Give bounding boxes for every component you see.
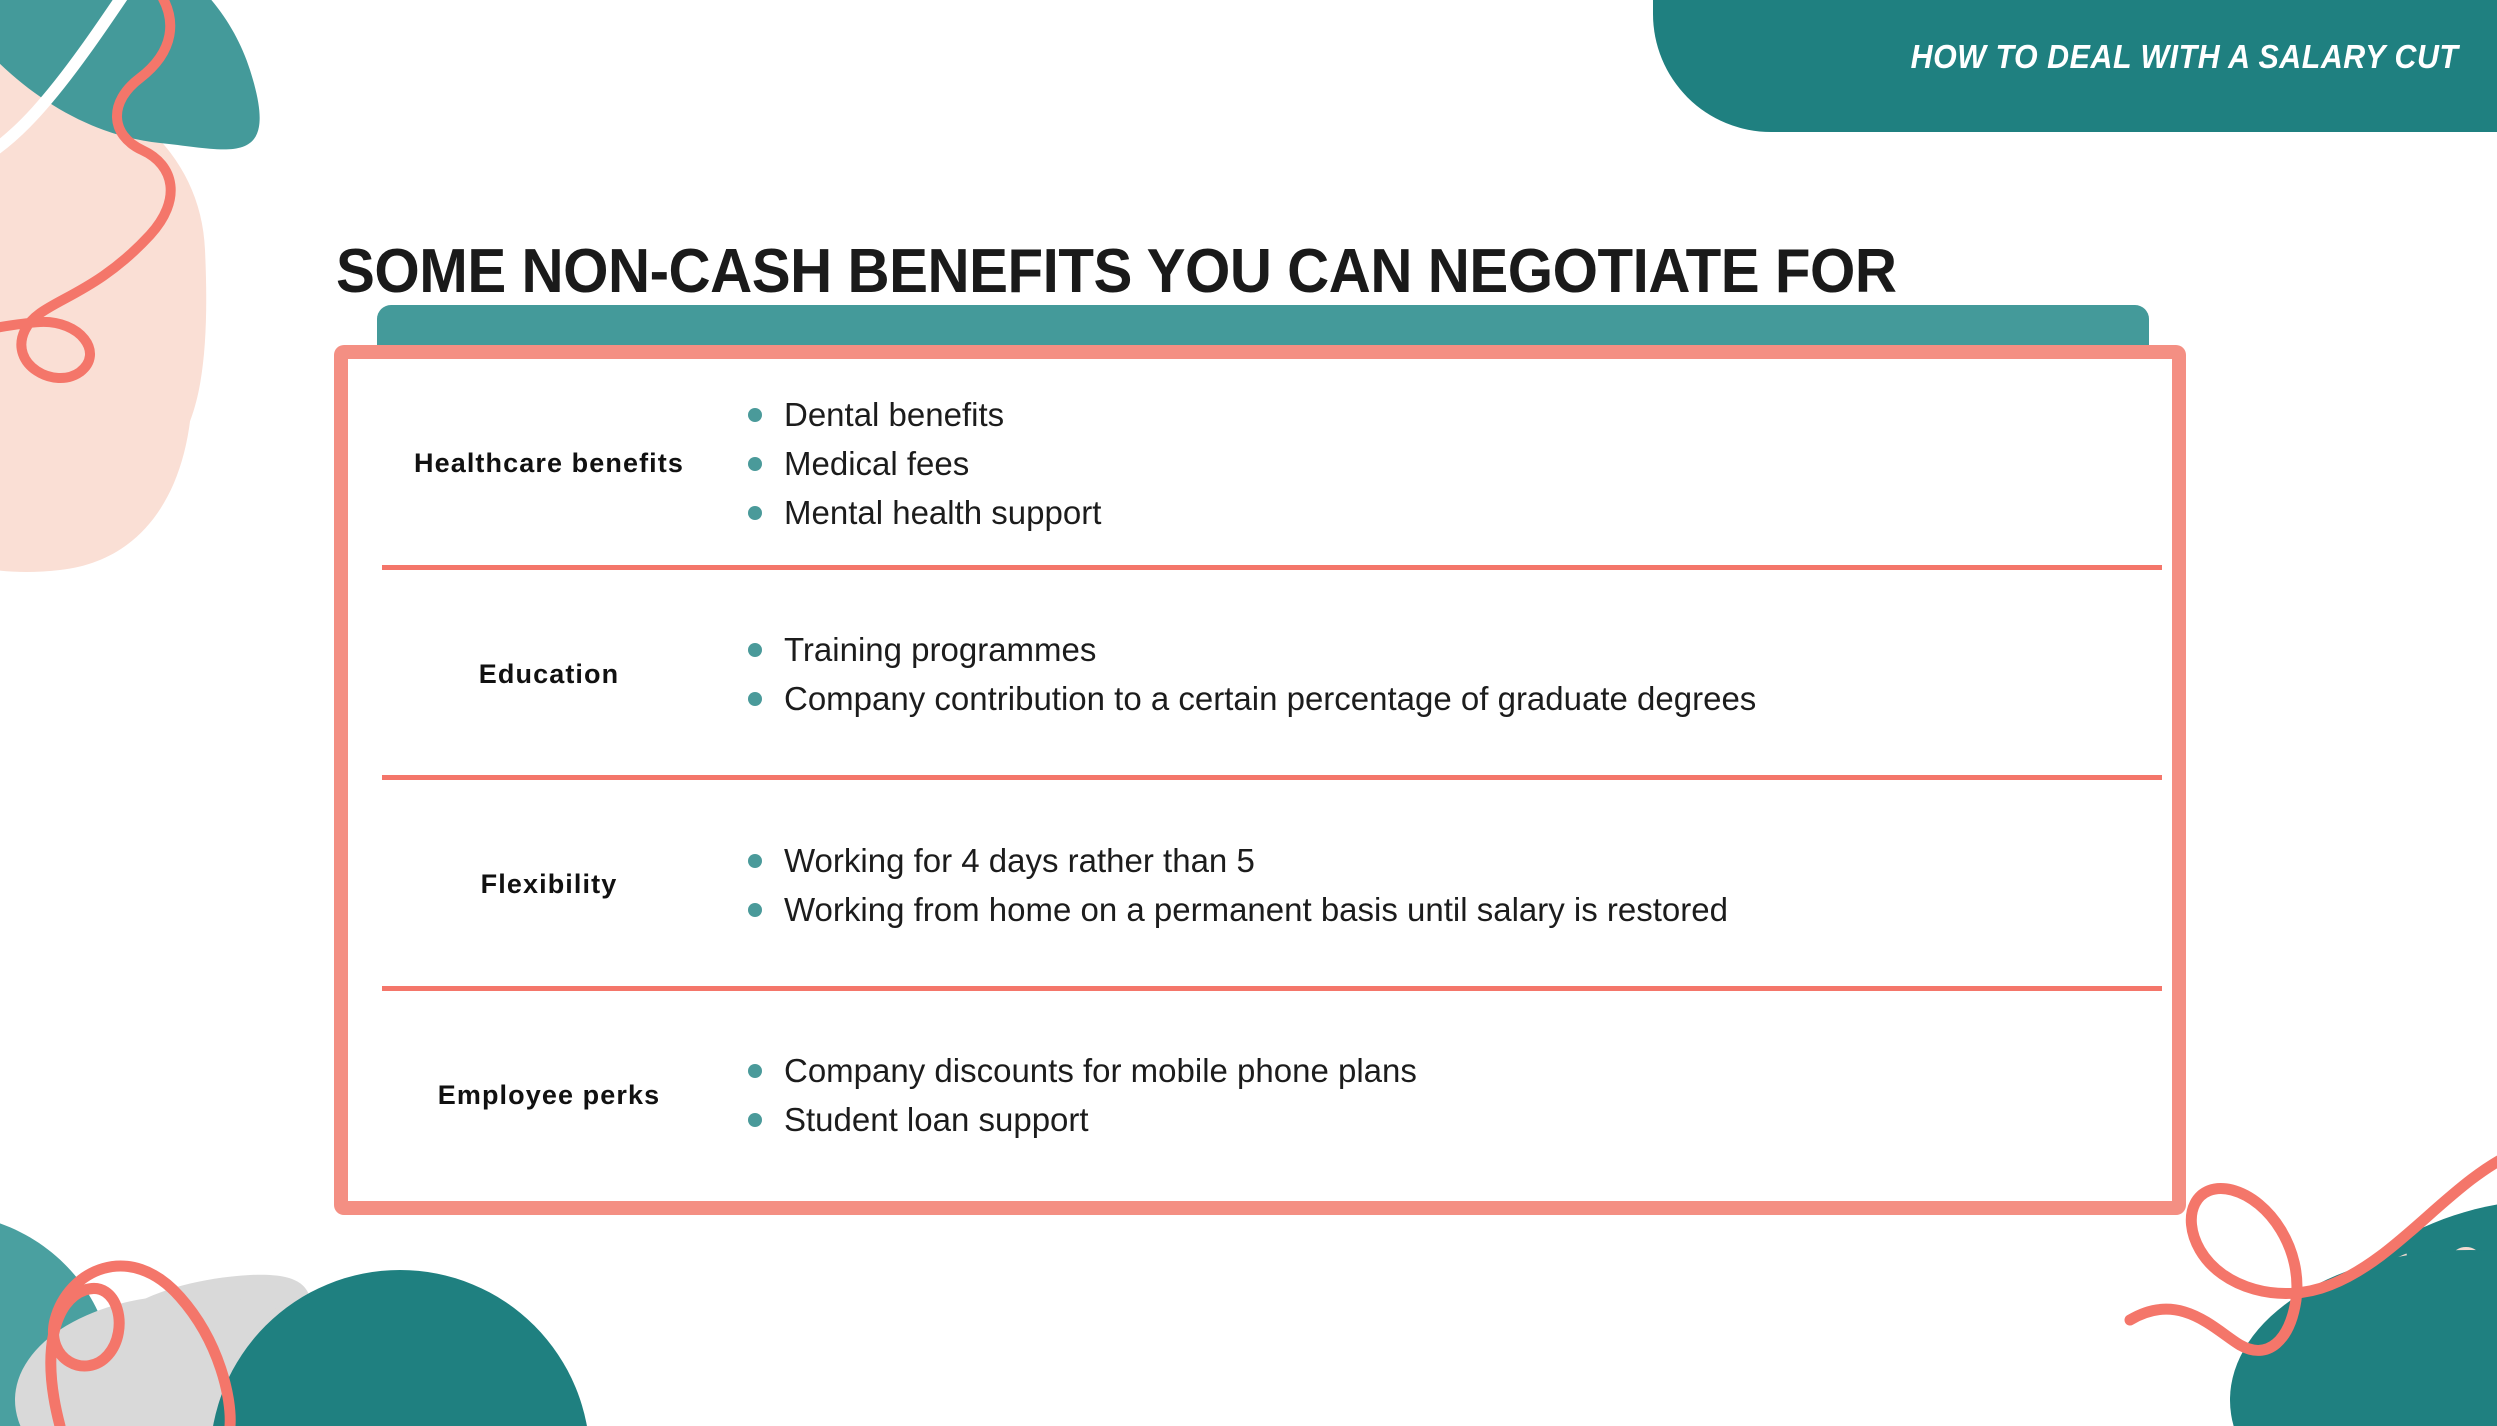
table-row: Employee perks Company discounts for mob… [348,991,2172,1202]
header-banner-label: HOW TO DEAL WITH A SALARY CUT [1911,38,2459,76]
row-items: Dental benefits Medical fees Mental heal… [748,394,2138,535]
bullet-dot-icon [748,643,762,657]
bullet-dot-icon [748,1113,762,1127]
table-row: Healthcare benefits Dental benefits Medi… [348,359,2172,570]
bullet-dot-icon [748,854,762,868]
row-items: Company discounts for mobile phone plans… [748,1050,2138,1141]
bullet-dot-icon [748,903,762,917]
list-item: Working for 4 days rather than 5 [748,840,2138,882]
bullet-dot-icon [748,1064,762,1078]
blob-teal-bottom-right-extra [2230,1250,2497,1426]
bullet-dot-icon [748,506,762,520]
benefits-table: Healthcare benefits Dental benefits Medi… [348,359,2172,1201]
list-item: Mental health support [748,492,2138,534]
list-item-text: Student loan support [784,1099,1089,1141]
table-row: Education Training programmes Company co… [348,570,2172,781]
bullet-dot-icon [748,692,762,706]
list-item: Medical fees [748,443,2138,485]
row-items: Working for 4 days rather than 5 Working… [748,840,2138,931]
row-items: Training programmes Company contribution… [748,629,2138,720]
table-row: Flexibility Working for 4 days rather th… [348,780,2172,991]
slide-canvas: HOW TO DEAL WITH A SALARY CUT SOME NON-C… [0,0,2497,1426]
bullet-dot-icon [748,457,762,471]
list-item: Training programmes [748,629,2138,671]
row-label: Education [358,657,748,693]
list-item-text: Working for 4 days rather than 5 [784,840,1255,882]
page-title: SOME NON-CASH BENEFITS YOU CAN NEGOTIATE… [336,236,1897,307]
list-item-text: Dental benefits [784,394,1004,436]
header-banner: HOW TO DEAL WITH A SALARY CUT [1653,0,2497,132]
row-label: Flexibility [358,867,748,903]
list-item: Student loan support [748,1099,2138,1141]
bullet-dot-icon [748,408,762,422]
list-item: Company discounts for mobile phone plans [748,1050,2138,1092]
list-item-text: Company contribution to a certain percen… [784,678,1756,720]
list-item: Working from home on a permanent basis u… [748,889,2138,931]
list-item-text: Working from home on a permanent basis u… [784,889,1728,931]
list-item-text: Company discounts for mobile phone plans [784,1050,1417,1092]
row-label: Healthcare benefits [358,446,748,482]
list-item-text: Medical fees [784,443,969,485]
list-item-text: Mental health support [784,492,1101,534]
list-item: Dental benefits [748,394,2138,436]
row-label: Employee perks [358,1078,748,1114]
list-item-text: Training programmes [784,629,1096,671]
list-item: Company contribution to a certain percen… [748,678,2138,720]
benefits-card: Healthcare benefits Dental benefits Medi… [334,345,2186,1215]
